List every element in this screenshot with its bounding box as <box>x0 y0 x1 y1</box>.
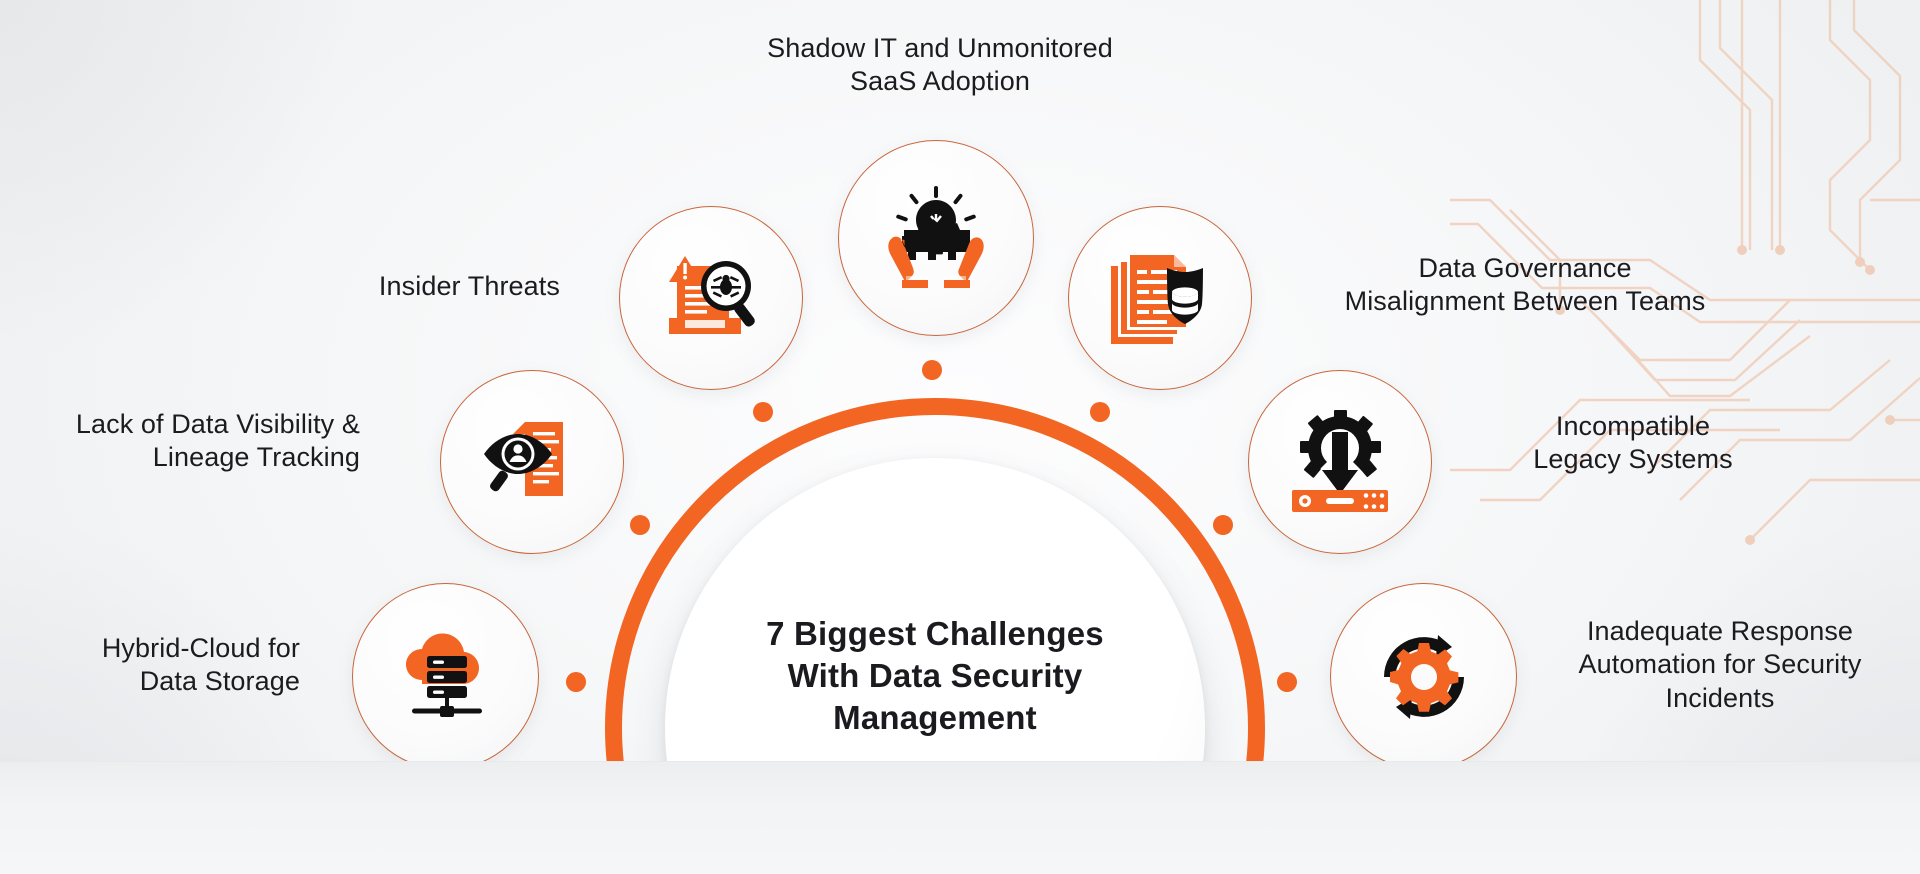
label-line: Legacy Systems <box>1468 443 1798 476</box>
center-title: 7 Biggest Challenges With Data Security … <box>695 613 1175 740</box>
gear-refresh-cycle-icon <box>1370 623 1478 731</box>
center-title-line-3: Management <box>695 697 1175 739</box>
label-insider-threats: Insider Threats <box>300 270 560 303</box>
label-legacy-systems: Incompatible Legacy Systems <box>1468 410 1798 477</box>
connector-dot-2 <box>630 515 650 535</box>
icon-bubble-data-visibility[interactable] <box>440 370 624 554</box>
connector-dot-3 <box>753 402 773 422</box>
connector-dot-4 <box>922 360 942 380</box>
icon-bubble-hybrid-cloud[interactable] <box>352 583 539 770</box>
label-line: SaaS Adoption <box>660 65 1220 98</box>
center-title-line-2: With Data Security <box>695 655 1175 697</box>
label-line: Misalignment Between Teams <box>1290 285 1760 318</box>
label-line: Shadow IT and Unmonitored <box>660 32 1220 65</box>
label-data-governance: Data Governance Misalignment Between Tea… <box>1290 252 1760 319</box>
icon-bubble-data-governance[interactable] <box>1068 206 1252 390</box>
hands-lightbulb-gear-icon <box>878 180 994 296</box>
label-line: Lineage Tracking <box>20 441 360 474</box>
label-shadow-it: Shadow IT and Unmonitored SaaS Adoption <box>660 32 1220 99</box>
icon-bubble-shadow-it[interactable] <box>838 140 1034 336</box>
connector-dot-5 <box>1090 402 1110 422</box>
label-line: Incompatible <box>1468 410 1798 443</box>
corner-shade-top-left <box>0 0 360 360</box>
floor-band <box>0 761 1920 874</box>
connector-dot-6 <box>1213 515 1233 535</box>
label-line: Automation for Security <box>1530 648 1910 681</box>
label-response-automation: Inadequate Response Automation for Secur… <box>1530 615 1910 715</box>
label-line: Lack of Data Visibility & <box>20 408 360 441</box>
label-line: Data Governance <box>1290 252 1760 285</box>
connector-dot-1 <box>566 672 586 692</box>
infographic-canvas: 7 Biggest Challenges With Data Security … <box>0 0 1920 874</box>
eye-magnifier-document-icon <box>476 408 588 516</box>
label-line: Data Storage <box>30 665 300 698</box>
label-hybrid-cloud: Hybrid-Cloud for Data Storage <box>30 632 300 699</box>
documents-shield-database-icon <box>1105 244 1215 352</box>
document-warning-bug-magnifier-icon <box>655 246 767 350</box>
icon-bubble-response-automation[interactable] <box>1330 583 1517 770</box>
icon-bubble-insider-threats[interactable] <box>619 206 803 390</box>
connector-dot-7 <box>1277 672 1297 692</box>
icon-bubble-legacy-systems[interactable] <box>1248 370 1432 554</box>
label-line: Hybrid-Cloud for <box>30 632 300 665</box>
label-line: Incidents <box>1530 682 1910 715</box>
label-line: Insider Threats <box>300 270 560 303</box>
gear-arrow-server-icon <box>1286 408 1394 516</box>
label-line: Inadequate Response <box>1530 615 1910 648</box>
cloud-server-icon <box>391 622 501 732</box>
label-data-visibility: Lack of Data Visibility & Lineage Tracki… <box>20 408 360 475</box>
center-title-line-1: 7 Biggest Challenges <box>695 613 1175 655</box>
